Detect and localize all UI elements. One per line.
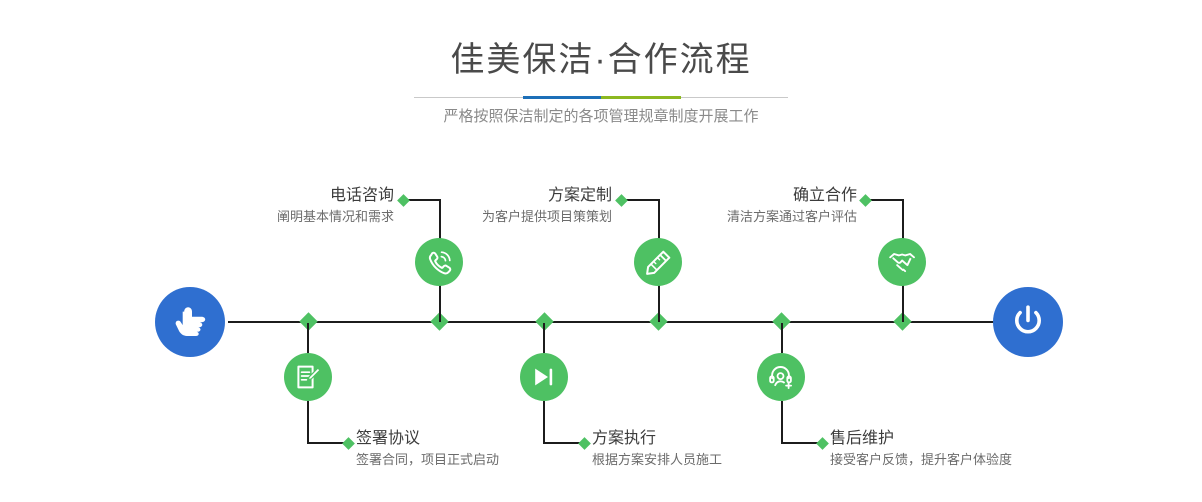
timeline-axis [228, 321, 994, 323]
step-title: 确立合作 [602, 185, 857, 207]
step-icon-play-execute[interactable] [520, 353, 568, 401]
divider-segment-green [601, 96, 681, 99]
step-desc: 阐明基本情况和需求 [139, 207, 394, 227]
step-label-step-2: 签署协议 签署合同，项目正式启动 [356, 428, 616, 470]
connector-elbow-v-step-4 [543, 401, 545, 444]
handshake-icon [888, 249, 916, 275]
page-subtitle: 严格按照保洁制定的各项管理规章制度开展工作 [0, 105, 1202, 129]
connector-tip-step-5 [859, 194, 872, 207]
connector-stem-step-2 [307, 323, 309, 353]
customer-support-icon [768, 364, 795, 390]
pointing-hand-icon [171, 305, 209, 339]
phone-call-icon [426, 249, 453, 276]
step-icon-pencil-ruler[interactable] [634, 238, 682, 286]
flow-end-endpoint [993, 287, 1063, 357]
step-desc: 签署合同，项目正式启动 [356, 450, 616, 470]
page-header: 佳美保洁·合作流程 严格按照保洁制定的各项管理规章制度开展工作 [0, 0, 1202, 150]
step-desc: 清洁方案通过客户评估 [602, 207, 857, 227]
title-divider [414, 96, 788, 99]
connector-stem-step-6 [781, 323, 783, 353]
step-desc: 根据方案安排人员施工 [592, 450, 852, 470]
step-label-step-3: 方案定制 为客户提供项目策策划 [357, 185, 612, 227]
connector-elbow-v-step-2 [307, 401, 309, 444]
step-desc: 接受客户反馈，提升客户体验度 [830, 450, 1110, 470]
step-title: 签署协议 [356, 428, 616, 450]
step-label-step-1: 电话咨询 阐明基本情况和需求 [139, 185, 394, 227]
step-icon-document-edit[interactable] [284, 353, 332, 401]
step-title: 方案执行 [592, 428, 852, 450]
connector-tip-step-2 [342, 437, 355, 450]
flow-start-endpoint [155, 287, 225, 357]
step-icon-phone-call[interactable] [415, 238, 463, 286]
step-title: 电话咨询 [139, 185, 394, 207]
step-label-step-4: 方案执行 根据方案安排人员施工 [592, 428, 852, 470]
connector-elbow-v-step-6 [781, 401, 783, 444]
step-desc: 为客户提供项目策策划 [357, 207, 612, 227]
pencil-ruler-icon [645, 249, 672, 276]
process-flow-diagram: 电话咨询 阐明基本情况和需求 签署协议 签署合同，项目正式启动 [0, 150, 1202, 502]
divider-segment-blue [523, 96, 601, 99]
power-icon [1009, 303, 1047, 341]
play-execute-icon [531, 364, 557, 390]
page-title: 佳美保洁·合作流程 [0, 38, 1202, 82]
document-edit-icon [295, 364, 321, 390]
step-icon-customer-support[interactable] [757, 353, 805, 401]
step-label-step-6: 售后维护 接受客户反馈，提升客户体验度 [830, 428, 1110, 470]
step-label-step-5: 确立合作 清洁方案通过客户评估 [602, 185, 857, 227]
step-title: 售后维护 [830, 428, 1110, 450]
step-title: 方案定制 [357, 185, 612, 207]
step-icon-handshake[interactable] [878, 238, 926, 286]
connector-stem-step-4 [543, 323, 545, 353]
